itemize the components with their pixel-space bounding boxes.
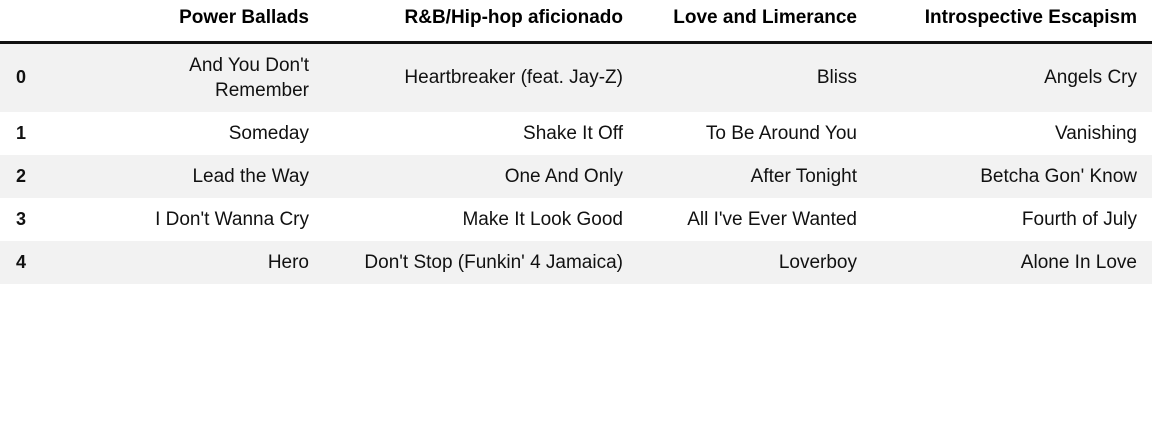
cell-r0-introspective-escapism: Angels Cry [872,42,1152,112]
cell-r1-power-ballads: Someday [126,112,324,155]
cell-r1-love-and-limerance: To Be Around You [638,112,872,155]
cell-r3-rnb-hiphop-aficionado: Make It Look Good [324,198,638,241]
cell-r3-power-ballads: I Don't Wanna Cry [126,198,324,241]
row-index-1: 1 [0,112,126,155]
row-index-2: 2 [0,155,126,198]
cell-r1-rnb-hiphop-aficionado: Shake It Off [324,112,638,155]
column-header-power-ballads: Power Ballads [126,0,324,42]
cell-r2-introspective-escapism: Betcha Gon' Know [872,155,1152,198]
table-row: 1 Someday Shake It Off To Be Around You … [0,112,1152,155]
row-index-0: 0 [0,42,126,112]
cell-r2-rnb-hiphop-aficionado: One And Only [324,155,638,198]
cell-r1-introspective-escapism: Vanishing [872,112,1152,155]
row-index-3: 3 [0,198,126,241]
cell-r2-power-ballads: Lead the Way [126,155,324,198]
dataframe-table: Power Ballads R&B/Hip-hop aficionado Lov… [0,0,1152,284]
column-header-rnb-hiphop-aficionado: R&B/Hip-hop aficionado [324,0,638,42]
dataframe-container: Power Ballads R&B/Hip-hop aficionado Lov… [0,0,1152,432]
cell-r2-love-and-limerance: After Tonight [638,155,872,198]
column-header-love-and-limerance: Love and Limerance [638,0,872,42]
cell-r4-love-and-limerance: Loverboy [638,241,872,284]
table-row: 2 Lead the Way One And Only After Tonigh… [0,155,1152,198]
cell-r0-love-and-limerance: Bliss [638,42,872,112]
cell-r3-introspective-escapism: Fourth of July [872,198,1152,241]
table-row: 0 And You Don't Remember Heartbreaker (f… [0,42,1152,112]
cell-r0-power-ballads: And You Don't Remember [126,42,324,112]
table-row: 3 I Don't Wanna Cry Make It Look Good Al… [0,198,1152,241]
column-header-introspective-escapism: Introspective Escapism [872,0,1152,42]
row-index-4: 4 [0,241,126,284]
cell-r4-rnb-hiphop-aficionado: Don't Stop (Funkin' 4 Jamaica) [324,241,638,284]
header-row: Power Ballads R&B/Hip-hop aficionado Lov… [0,0,1152,42]
cell-r4-power-ballads: Hero [126,241,324,284]
table-header: Power Ballads R&B/Hip-hop aficionado Lov… [0,0,1152,42]
table-row: 4 Hero Don't Stop (Funkin' 4 Jamaica) Lo… [0,241,1152,284]
column-header-index [0,0,126,42]
cell-r3-love-and-limerance: All I've Ever Wanted [638,198,872,241]
table-body: 0 And You Don't Remember Heartbreaker (f… [0,42,1152,284]
cell-r0-rnb-hiphop-aficionado: Heartbreaker (feat. Jay-Z) [324,42,638,112]
cell-r4-introspective-escapism: Alone In Love [872,241,1152,284]
